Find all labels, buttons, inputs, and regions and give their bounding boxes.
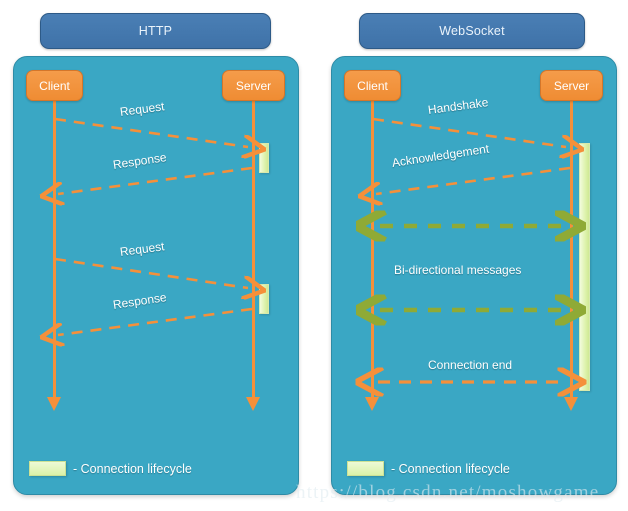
message-label-websocket-4: Connection end bbox=[428, 358, 512, 372]
panel-websocket: Client Server bbox=[331, 56, 617, 495]
actor-server-websocket[interactable]: Server bbox=[540, 70, 603, 101]
panel-title-websocket: WebSocket bbox=[359, 13, 585, 49]
actor-client-websocket[interactable]: Client bbox=[344, 70, 401, 101]
diagram-canvas: HTTP Client Server bbox=[0, 0, 628, 511]
message-label-websocket-3: Bi-directional messages bbox=[394, 263, 521, 277]
legend-websocket-label: - Connection lifecycle bbox=[391, 462, 510, 476]
actor-server-websocket-label: Server bbox=[554, 79, 589, 93]
legend-websocket: - Connection lifecycle bbox=[347, 461, 510, 476]
actor-server-http-label: Server bbox=[236, 79, 271, 93]
actor-client-http-label: Client bbox=[39, 79, 70, 93]
actor-server-http[interactable]: Server bbox=[222, 70, 285, 101]
actor-client-http[interactable]: Client bbox=[26, 70, 83, 101]
lifecycle-swatch-icon bbox=[347, 461, 384, 476]
panel-http: Client Server bbox=[13, 56, 299, 495]
lifecycle-swatch-icon bbox=[29, 461, 66, 476]
panel-title-http-label: HTTP bbox=[139, 24, 172, 38]
panel-title-websocket-label: WebSocket bbox=[439, 24, 505, 38]
legend-http: - Connection lifecycle bbox=[29, 461, 192, 476]
message-label-websocket-3-text: Bi-directional messages bbox=[394, 263, 521, 277]
legend-http-label: - Connection lifecycle bbox=[73, 462, 192, 476]
actor-client-websocket-label: Client bbox=[357, 79, 388, 93]
message-label-websocket-4-text: Connection end bbox=[428, 358, 512, 372]
message-arrows-http bbox=[14, 57, 299, 495]
panel-title-http: HTTP bbox=[40, 13, 271, 49]
